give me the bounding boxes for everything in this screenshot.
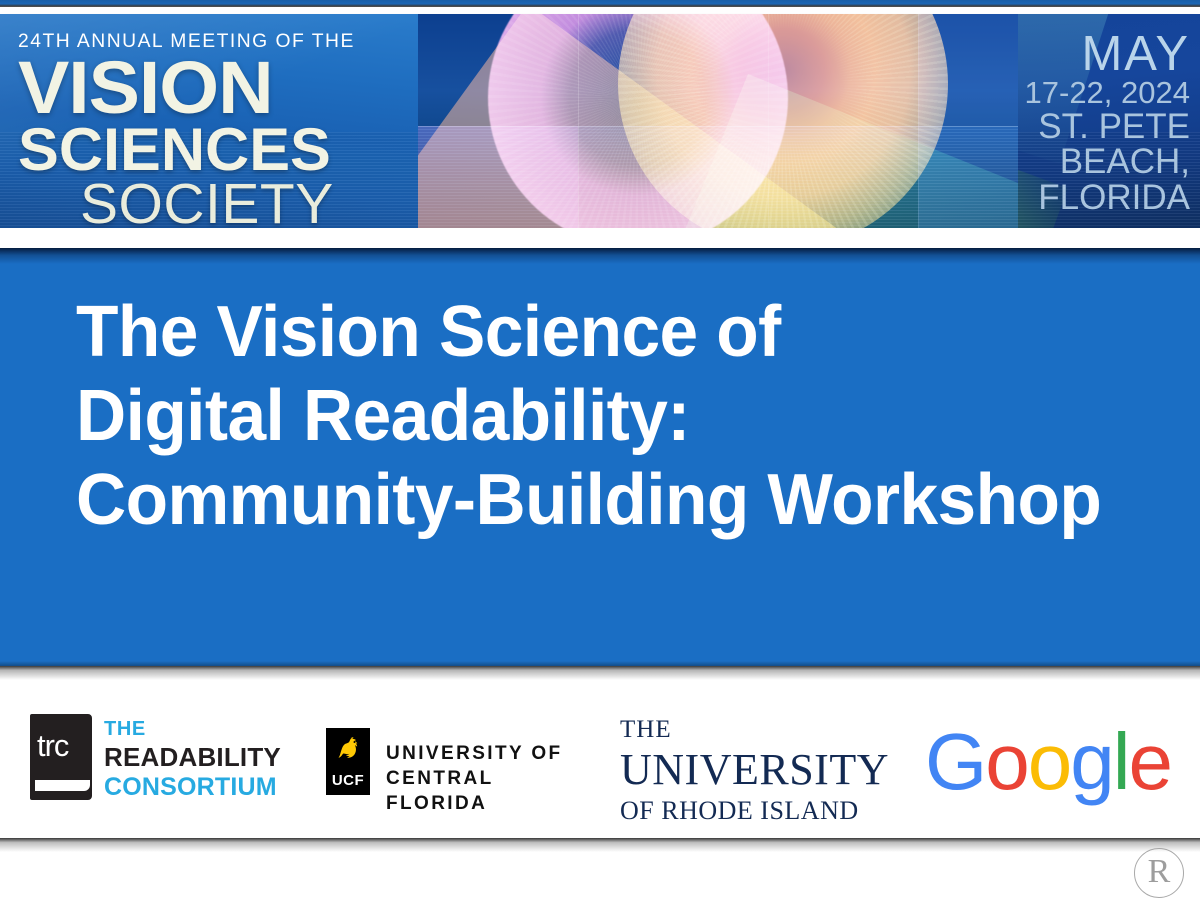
banner-eye-artwork — [418, 14, 1018, 228]
logo-university-of-central-florida: UCF UNIVERSITY OF CENTRAL FLORIDA — [326, 728, 591, 800]
registered-mark-watermark: R — [1134, 848, 1184, 898]
conference-city-line1: ST. PETE — [1022, 109, 1190, 145]
trc-line-the: THE — [104, 717, 281, 742]
ucf-line-central-florida: CENTRAL FLORIDA — [386, 766, 591, 816]
conference-state: FLORIDA — [1022, 180, 1190, 216]
artwork-grid-line — [918, 14, 919, 228]
trc-line-consortium: CONSORTIUM — [104, 772, 281, 802]
logos-row: trc THE READABILITY CONSORTIUM UCF — [0, 666, 1200, 838]
vss-word-vision: VISION — [18, 55, 434, 120]
vss-logo-panel: 24TH ANNUAL MEETING OF THE VISION SCIENC… — [0, 14, 418, 228]
google-letter-l: l — [1113, 717, 1129, 806]
logo-google: Google — [925, 722, 1171, 802]
title-block-top-shading — [0, 248, 1200, 264]
vss-date-location-panel: MAY 17-22, 2024 ST. PETE BEACH, FLORIDA — [1018, 14, 1200, 228]
trc-monogram: trc — [37, 730, 68, 761]
pegasus-icon — [335, 735, 362, 768]
artwork-grid-line — [768, 14, 769, 228]
ucf-badge-text: UCF — [326, 772, 370, 789]
vss-word-society: SOCIETY — [80, 179, 418, 228]
uri-line-of-rhode-island: OF RHODE ISLAND — [620, 794, 890, 827]
page-title: The Vision Science of Digital Readabilit… — [76, 290, 1138, 542]
artwork-blue-tint — [918, 14, 1018, 228]
footer-top-shadow — [0, 838, 1200, 852]
google-letter-o1: o — [985, 717, 1028, 806]
artwork-grid-line — [578, 14, 579, 228]
google-letter-e: e — [1129, 717, 1172, 806]
logo-university-of-rhode-island: THE UNIVERSITY OF RHODE ISLAND — [620, 714, 890, 810]
trc-book-page — [35, 780, 90, 791]
presentation-slide: 24TH ANNUAL MEETING OF THE VISION SCIENC… — [0, 0, 1200, 900]
trc-line-readability: READABILITY — [104, 742, 281, 772]
title-block: The Vision Science of Digital Readabilit… — [0, 248, 1200, 666]
conference-dates: 17-22, 2024 — [1022, 77, 1190, 109]
banner-separator-gap — [0, 228, 1200, 248]
vss-conference-banner: 24TH ANNUAL MEETING OF THE VISION SCIENC… — [0, 14, 1200, 228]
sponsor-logo-band: trc THE READABILITY CONSORTIUM UCF — [0, 666, 1200, 838]
artwork-grid-line — [418, 126, 1018, 127]
conference-month: MAY — [1022, 32, 1190, 77]
trc-wordmark: THE READABILITY CONSORTIUM — [104, 717, 281, 802]
conference-city-line2: BEACH, — [1022, 144, 1190, 180]
title-wrapper: The Vision Science of Digital Readabilit… — [76, 290, 1176, 542]
uri-line-the: THE — [620, 714, 890, 745]
ucf-line-university-of: UNIVERSITY OF — [386, 741, 591, 766]
uri-line-university: UNIVERSITY — [620, 745, 890, 794]
google-letter-g2: g — [1070, 717, 1113, 806]
artwork-purple-tint — [418, 126, 578, 228]
slide-footer: R — [0, 838, 1200, 900]
google-letter-g1: G — [925, 717, 985, 806]
ucf-badge: UCF — [326, 728, 370, 795]
top-accent-strip — [0, 0, 1200, 7]
google-letter-o2: o — [1028, 717, 1071, 806]
vss-word-sciences: SCIENCES — [18, 124, 426, 177]
logo-the-readability-consortium: trc THE READABILITY CONSORTIUM — [30, 714, 300, 809]
ucf-wordmark: UNIVERSITY OF CENTRAL FLORIDA — [386, 741, 591, 816]
